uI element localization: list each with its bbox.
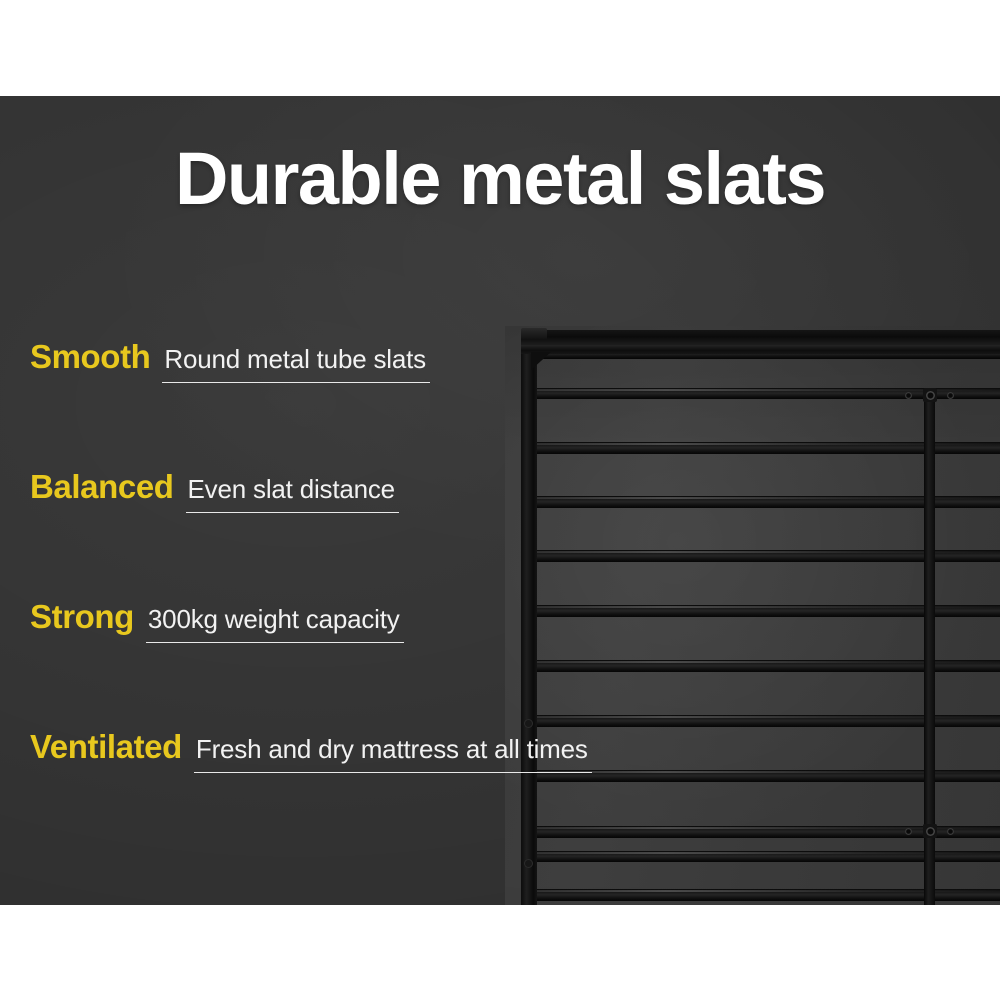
dark-panel: Durable metal slats Smooth Round metal t… xyxy=(0,96,1000,905)
bolt-icon xyxy=(905,828,912,835)
center-support-bar xyxy=(924,396,935,831)
slat-bracket xyxy=(903,824,957,838)
bolt-icon xyxy=(524,859,533,868)
feature-title-balanced: Balanced xyxy=(30,468,174,506)
top-frame-rail-secondary xyxy=(521,345,1000,354)
feature-row-ventilated: Ventilated Fresh and dry mattress at all… xyxy=(30,728,570,858)
slat-bracket xyxy=(903,388,957,402)
center-support-bar xyxy=(924,831,935,905)
feature-description-balanced: Even slat distance xyxy=(186,474,399,513)
bolt-icon xyxy=(926,827,935,836)
page-title: Durable metal slats xyxy=(0,136,1000,222)
top-frame-rail xyxy=(521,330,1000,345)
feature-title-smooth: Smooth xyxy=(30,338,150,376)
feature-list: Smooth Round metal tube slats Balanced E… xyxy=(30,338,570,858)
feature-row-strong: Strong 300kg weight capacity xyxy=(30,598,570,728)
feature-description-strong: 300kg weight capacity xyxy=(146,604,404,643)
feature-description-smooth: Round metal tube slats xyxy=(162,344,430,383)
feature-row-smooth: Smooth Round metal tube slats xyxy=(30,338,570,468)
bed-frame-photo xyxy=(505,326,1000,905)
feature-title-ventilated: Ventilated xyxy=(30,728,182,766)
feature-description-ventilated: Fresh and dry mattress at all times xyxy=(194,734,592,773)
product-feature-image: Durable metal slats Smooth Round metal t… xyxy=(0,0,1000,1000)
bolt-icon xyxy=(947,392,954,399)
bolt-icon xyxy=(926,391,935,400)
feature-title-strong: Strong xyxy=(30,598,134,636)
bolt-icon xyxy=(905,392,912,399)
bolt-icon xyxy=(947,828,954,835)
feature-row-balanced: Balanced Even slat distance xyxy=(30,468,570,598)
